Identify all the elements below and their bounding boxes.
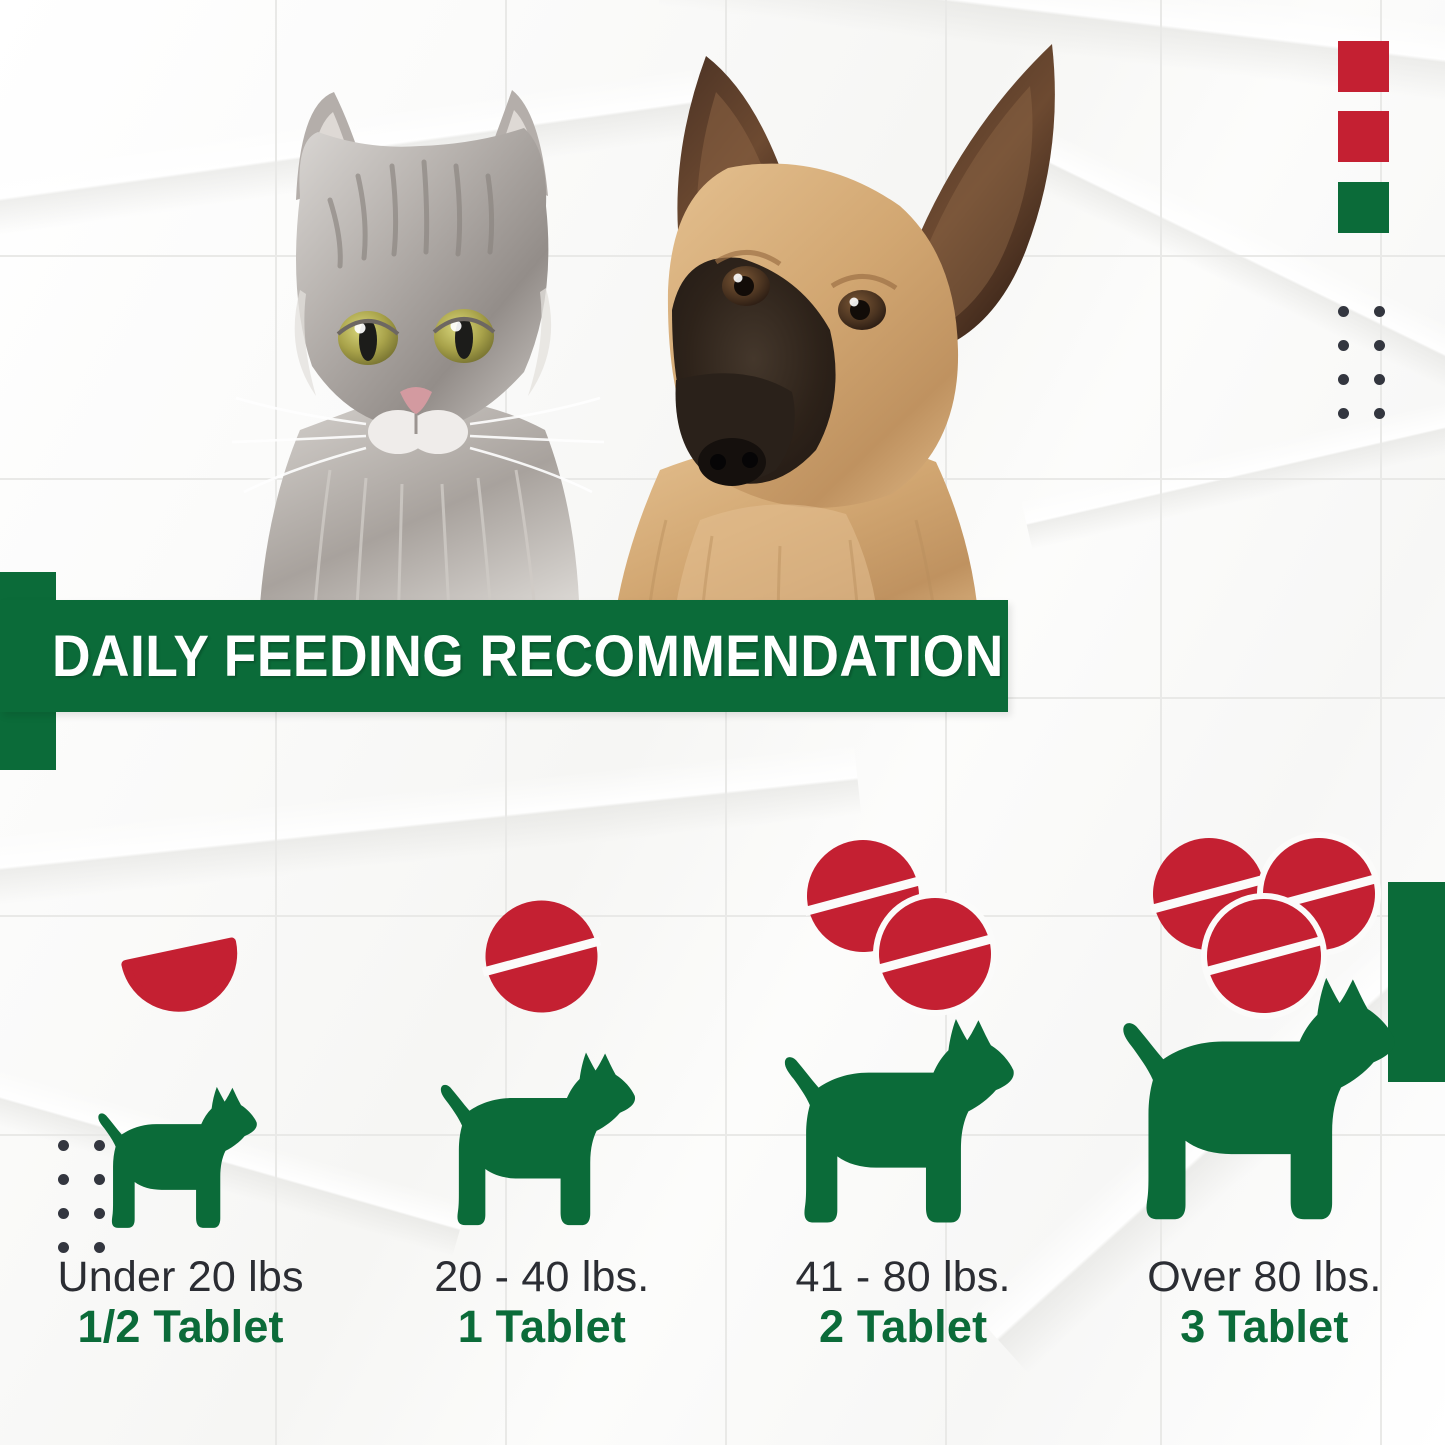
weight-range-label: 20 - 40 lbs. xyxy=(434,1254,649,1300)
dog-icon-small xyxy=(0,1025,361,1240)
dot xyxy=(1338,408,1349,419)
two-tablets-icon xyxy=(801,834,1006,1019)
tablet-count-label: 1/2 Tablet xyxy=(78,1300,284,1353)
pill-group-two xyxy=(723,810,1084,1025)
dog-icon-large xyxy=(723,1025,1084,1240)
decor-dot-grid-top-right xyxy=(1338,306,1410,442)
dot xyxy=(1338,306,1349,317)
weight-range-label: Under 20 lbs xyxy=(58,1254,304,1300)
dosage-column-41-80: 41 - 80 lbs. 2 Tablet xyxy=(723,770,1084,1390)
dog-silhouette-icon xyxy=(1114,966,1414,1240)
dosage-label-group: 41 - 80 lbs. 2 Tablet xyxy=(723,1240,1084,1390)
dog-illustration xyxy=(612,44,1055,640)
tablet-count-label: 1 Tablet xyxy=(458,1300,626,1353)
pill-group-one xyxy=(361,810,722,1025)
dog-icon-medium xyxy=(361,1025,722,1240)
decor-square-green xyxy=(1338,182,1389,233)
dosage-label-group: Over 80 lbs. 3 Tablet xyxy=(1084,1240,1445,1390)
feeding-recommendation-infographic: DAILY FEEDING RECOMMENDATION Under 20 lb… xyxy=(0,0,1445,1445)
title-banner: DAILY FEEDING RECOMMENDATION xyxy=(0,600,1008,712)
tablet-count-label: 3 Tablet xyxy=(1180,1300,1348,1353)
hero-photo xyxy=(0,0,1445,640)
dot xyxy=(1374,374,1385,385)
dot xyxy=(1374,408,1385,419)
dot xyxy=(1374,306,1385,317)
half-tablet-icon xyxy=(111,909,251,1019)
pill-group-half xyxy=(0,810,361,1025)
decor-square-red-middle xyxy=(1338,111,1389,162)
dot xyxy=(1338,374,1349,385)
weight-range-label: Over 80 lbs. xyxy=(1147,1254,1381,1300)
dosage-label-group: 20 - 40 lbs. 1 Tablet xyxy=(361,1240,722,1390)
cat-illustration xyxy=(232,90,604,640)
dog-silhouette-icon xyxy=(777,1009,1030,1240)
dosage-column-over-80: Over 80 lbs. 3 Tablet xyxy=(1084,770,1445,1390)
dosage-chart: Under 20 lbs 1/2 Tablet 20 - 40 xyxy=(0,770,1445,1390)
one-tablet-icon xyxy=(479,894,604,1019)
page-title: DAILY FEEDING RECOMMENDATION xyxy=(52,623,1004,690)
dosage-column-under-20: Under 20 lbs 1/2 Tablet xyxy=(0,770,361,1390)
dog-silhouette-icon xyxy=(434,1044,649,1240)
decor-square-red-top xyxy=(1338,41,1389,92)
dosage-column-20-40: 20 - 40 lbs. 1 Tablet xyxy=(361,770,722,1390)
dot xyxy=(1374,340,1385,351)
dosage-label-group: Under 20 lbs 1/2 Tablet xyxy=(0,1240,361,1390)
weight-range-label: 41 - 80 lbs. xyxy=(796,1254,1011,1300)
tablet-count-label: 2 Tablet xyxy=(819,1300,987,1353)
dog-silhouette-icon xyxy=(93,1080,268,1240)
dog-icon-xlarge xyxy=(1084,1025,1445,1240)
dot xyxy=(1338,340,1349,351)
